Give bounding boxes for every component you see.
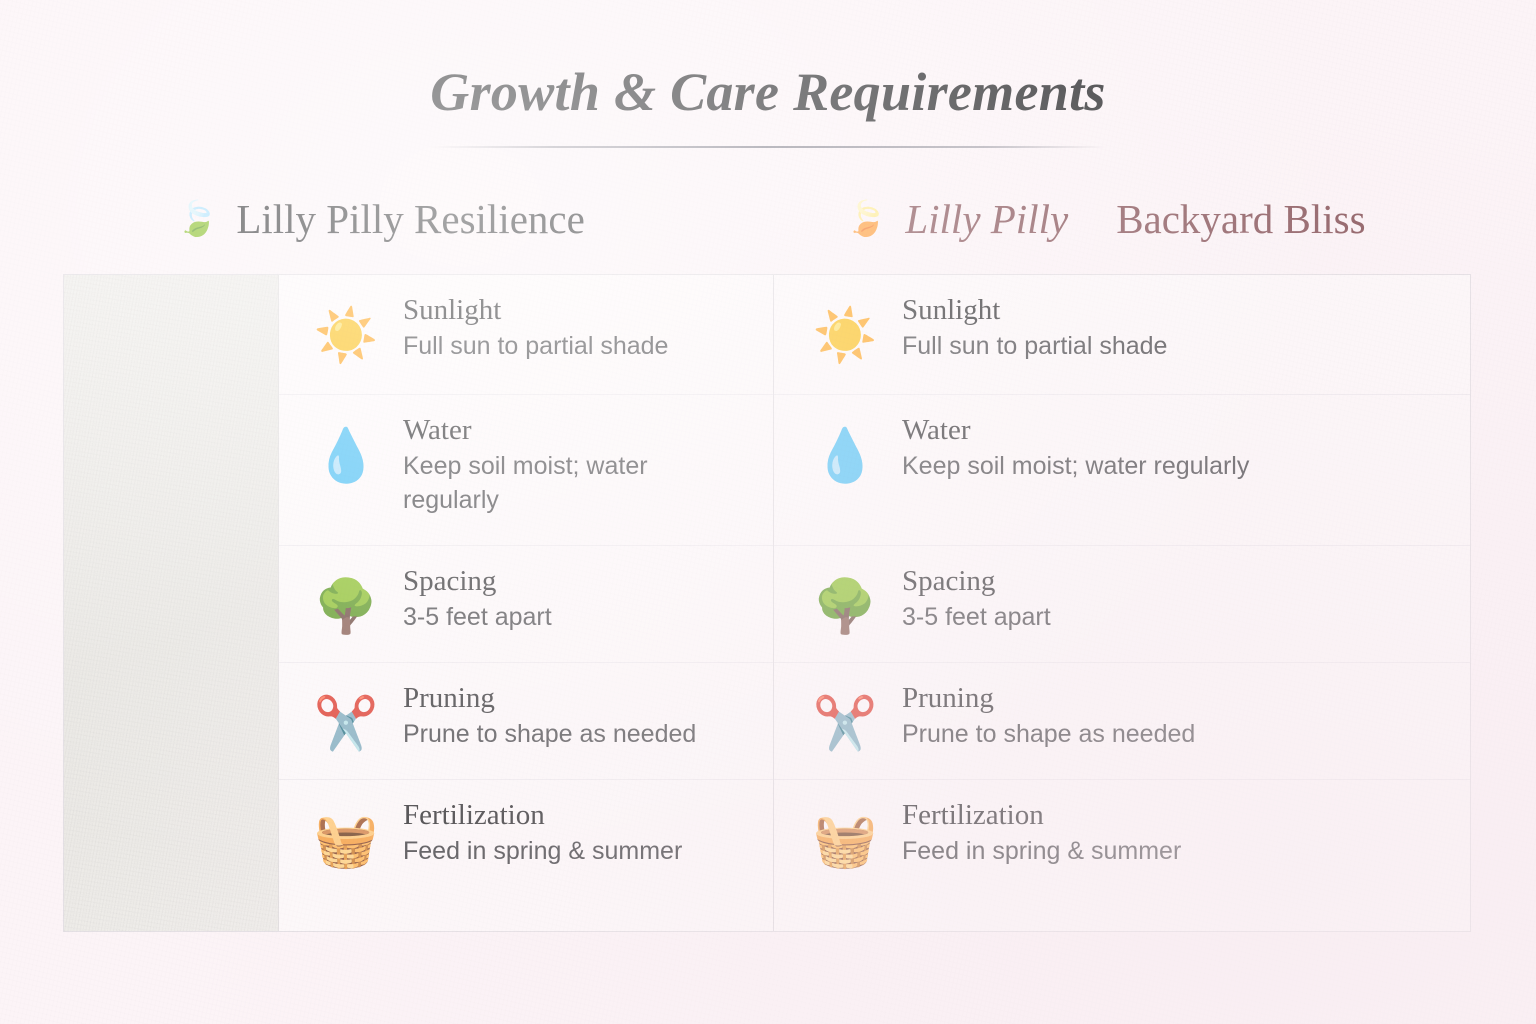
care-row-fertilization-right: 🧺 Fertilization Feed in spring & summer	[774, 780, 1470, 920]
care-row-text: Spacing 3-5 feet apart	[403, 562, 747, 635]
care-row-spacing-right: 🌳 Spacing 3-5 feet apart	[774, 546, 1470, 663]
column-title-resilience: Lilly Pilly Resilience	[236, 196, 584, 243]
texture-filler-panel	[64, 275, 279, 931]
green-leaf-icon: 🍃	[176, 203, 218, 237]
column-header-backyard-bliss: 🍃 Lilly Pilly Backyard Bliss	[845, 196, 1366, 243]
care-row-label: Pruning	[403, 681, 747, 716]
care-column-backyard-bliss: ☀️ Sunlight Full sun to partial shade 💧 …	[774, 275, 1470, 931]
care-row-description: Prune to shape as needed	[403, 718, 747, 752]
care-row-spacing-left: 🌳 Spacing 3-5 feet apart	[279, 546, 773, 663]
fertilizer-bag-icon: 🧺	[307, 802, 385, 880]
care-row-label: Water	[403, 413, 747, 448]
water-drop-icon: 💧	[806, 417, 884, 495]
care-row-pruning-left: ✂️ Pruning Prune to shape as needed	[279, 663, 773, 780]
care-row-description: Full sun to partial shade	[403, 330, 747, 364]
column-title-backyard-bliss-italic: Lilly Pilly	[905, 196, 1068, 243]
care-row-label: Fertilization	[902, 798, 1440, 833]
comparison-card: ☀️ Sunlight Full sun to partial shade 💧 …	[63, 274, 1471, 932]
column-header-resilience: 🍃 Lilly Pilly Resilience	[176, 196, 585, 243]
care-row-sunlight-left: ☀️ Sunlight Full sun to partial shade	[279, 275, 773, 395]
care-row-water-right: 💧 Water Keep soil moist; water regularly	[774, 395, 1470, 546]
care-row-text: Sunlight Full sun to partial shade	[403, 291, 747, 364]
care-row-text: Fertilization Feed in spring & summer	[902, 796, 1440, 869]
care-row-label: Water	[902, 413, 1440, 448]
care-row-text: Pruning Prune to shape as needed	[403, 679, 747, 752]
care-row-label: Spacing	[403, 564, 747, 599]
care-row-description: 3-5 feet apart	[403, 601, 747, 635]
care-row-label: Pruning	[902, 681, 1440, 716]
care-row-label: Sunlight	[902, 293, 1440, 328]
care-row-label: Sunlight	[403, 293, 747, 328]
care-row-text: Spacing 3-5 feet apart	[902, 562, 1440, 635]
care-row-text: Water Keep soil moist; water regularly	[403, 411, 747, 517]
shrub-spacing-icon: 🌳	[307, 568, 385, 646]
fertilizer-bag-icon: 🧺	[806, 802, 884, 880]
care-row-text: Fertilization Feed in spring & summer	[403, 796, 747, 869]
care-row-text: Sunlight Full sun to partial shade	[902, 291, 1440, 364]
care-row-label: Fertilization	[403, 798, 747, 833]
care-row-water-left: 💧 Water Keep soil moist; water regularly	[279, 395, 773, 546]
care-row-description: Keep soil moist; water regularly	[403, 450, 747, 517]
care-row-description: Prune to shape as needed	[902, 718, 1440, 752]
pruning-shears-icon: ✂️	[806, 685, 884, 763]
care-row-sunlight-right: ☀️ Sunlight Full sun to partial shade	[774, 275, 1470, 395]
column-title-backyard-bliss-roman: Backyard Bliss	[1116, 196, 1365, 243]
water-drop-icon: 💧	[307, 417, 385, 495]
page-title: Growth & Care Requirements	[0, 60, 1536, 125]
care-row-fertilization-left: 🧺 Fertilization Feed in spring & summer	[279, 780, 773, 920]
care-row-description: Full sun to partial shade	[902, 330, 1440, 364]
red-leaf-icon: 🍃	[845, 203, 887, 237]
shrub-spacing-icon: 🌳	[806, 568, 884, 646]
care-row-description: Feed in spring & summer	[902, 835, 1440, 869]
care-row-description: Feed in spring & summer	[403, 835, 747, 869]
care-column-resilience: ☀️ Sunlight Full sun to partial shade 💧 …	[279, 275, 773, 931]
care-row-text: Pruning Prune to shape as needed	[902, 679, 1440, 752]
pruning-shears-icon: ✂️	[307, 685, 385, 763]
care-row-label: Spacing	[902, 564, 1440, 599]
care-row-pruning-right: ✂️ Pruning Prune to shape as needed	[774, 663, 1470, 780]
sun-icon: ☀️	[806, 297, 884, 375]
care-row-description: Keep soil moist; water regularly	[902, 450, 1440, 484]
care-row-text: Water Keep soil moist; water regularly	[902, 411, 1440, 484]
title-divider	[430, 146, 1106, 148]
care-row-description: 3-5 feet apart	[902, 601, 1440, 635]
sun-icon: ☀️	[307, 297, 385, 375]
